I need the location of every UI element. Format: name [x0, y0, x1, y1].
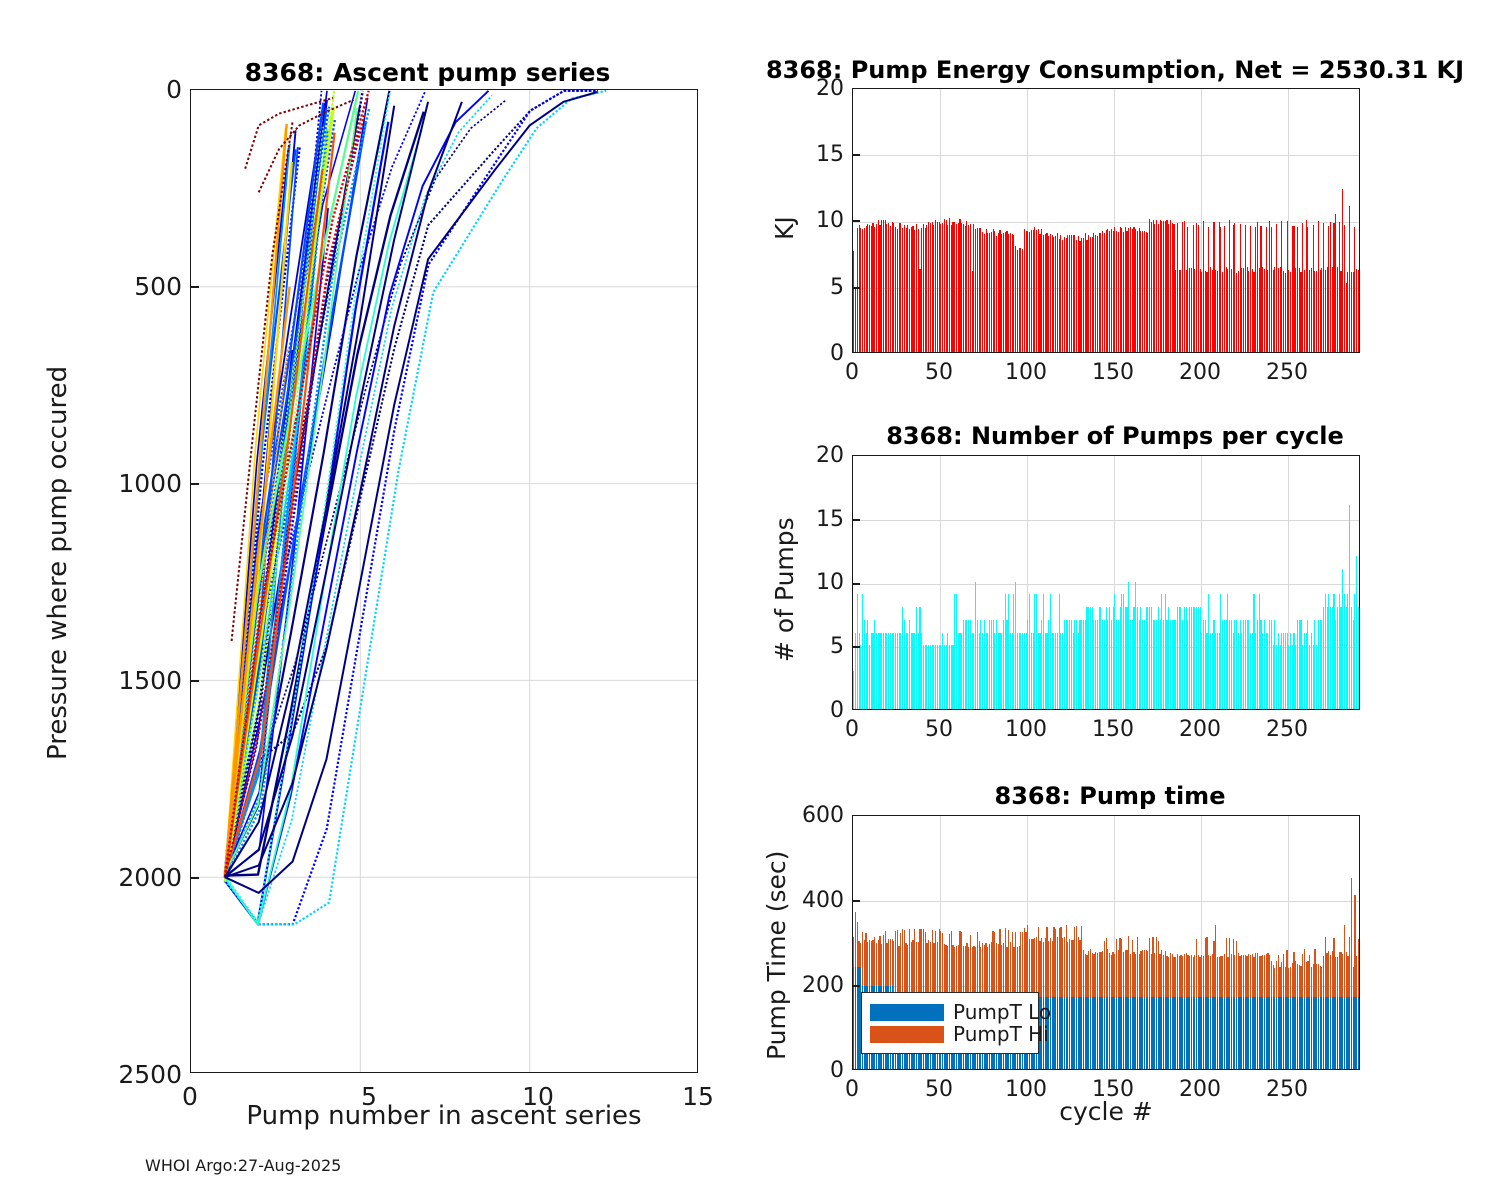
ascent-ytickmark-2000 — [190, 877, 199, 879]
pumptime-panel-title: 8368: Pump time — [870, 782, 1350, 810]
pumps-ytickmark-10 — [852, 583, 860, 585]
panel-ascent-pump-series: 8368: Ascent pump series 0 500 1000 1500… — [0, 0, 740, 1200]
ascent-ytick-0: 0 — [90, 75, 182, 104]
energy-xtick-200: 200 — [1170, 360, 1230, 385]
panel-pump-time: 8368: Pump time PumpT Lo PumpT Hi 600 40… — [740, 760, 1500, 1200]
pumptime-ytickmark-400 — [852, 900, 860, 902]
energy-xtick-100: 100 — [996, 360, 1056, 385]
energy-ytick-5: 5 — [780, 275, 844, 300]
energy-ytickmark-5 — [852, 287, 860, 289]
pumps-bar-group — [853, 456, 1359, 709]
panel-pumps-per-cycle: 8368: Number of Pumps per cycle 20 15 10… — [740, 400, 1500, 760]
legend-item-pumpt-hi: PumpT Hi — [870, 1023, 1030, 1045]
ascent-ytick-2000: 2000 — [90, 863, 182, 892]
energy-xtick-50: 50 — [909, 360, 969, 385]
pumps-ytickmark-5 — [852, 646, 860, 648]
ascent-trajectories — [191, 90, 698, 1073]
pumps-xtick-200: 200 — [1170, 717, 1230, 742]
pumps-ytick-20: 20 — [780, 443, 844, 468]
pumps-xtick-0: 0 — [822, 717, 882, 742]
energy-ytick-20: 20 — [780, 76, 844, 101]
ascent-ytickmark-1500 — [190, 680, 199, 682]
ascent-panel-title: 8368: Ascent pump series — [155, 58, 700, 87]
figure-canvas: 8368: Ascent pump series 0 500 1000 1500… — [0, 0, 1500, 1200]
energy-ytick-15: 15 — [780, 142, 844, 167]
energy-xtick-0: 0 — [822, 360, 882, 385]
pumps-xtick-250: 250 — [1257, 717, 1317, 742]
ascent-line-group — [225, 91, 606, 925]
legend-item-pumpt-lo: PumpT Lo — [870, 1001, 1030, 1023]
pumps-plot-area — [852, 455, 1360, 710]
ascent-ytick-500: 500 — [90, 272, 182, 301]
ascent-ytickmark-500 — [190, 286, 199, 288]
pumps-ytickmark-15 — [852, 519, 860, 521]
panel-pump-energy: 8368: Pump Energy Consumption, Net = 253… — [740, 0, 1500, 400]
ascent-xaxis-label: Pump number in ascent series — [190, 1101, 698, 1131]
legend-label-pumpt-lo: PumpT Lo — [953, 1002, 1051, 1022]
pumptime-yaxis-label: Pump Time (sec) — [762, 851, 791, 1060]
pumps-panel-title: 8368: Number of Pumps per cycle — [810, 422, 1420, 450]
pumptime-ytick-600: 600 — [764, 803, 844, 828]
energy-panel-title: 8368: Pump Energy Consumption, Net = 253… — [750, 56, 1480, 84]
pumps-xtick-150: 150 — [1083, 717, 1143, 742]
energy-ytickmark-15 — [852, 154, 860, 156]
ascent-ytick-1500: 1500 — [90, 666, 182, 695]
pumps-yaxis-label: # of Pumps — [770, 517, 799, 662]
pumptime-legend: PumpT Lo PumpT Hi — [861, 992, 1039, 1054]
legend-label-pumpt-hi: PumpT Hi — [953, 1024, 1049, 1044]
pumps-xtick-100: 100 — [996, 717, 1056, 742]
ascent-ytick-1000: 1000 — [90, 469, 182, 498]
energy-xtick-150: 150 — [1083, 360, 1143, 385]
energy-ytickmark-10 — [852, 220, 860, 222]
ascent-yaxis-label: Pressure where pump occured — [43, 366, 73, 760]
legend-swatch-pumpt-hi — [870, 1026, 944, 1043]
legend-swatch-pumpt-lo — [870, 1004, 944, 1021]
energy-bar-group — [853, 89, 1359, 352]
energy-xtick-250: 250 — [1257, 360, 1317, 385]
energy-yaxis-label: KJ — [770, 216, 799, 240]
ascent-plot-area — [190, 89, 698, 1073]
figure-footer: WHOI Argo:27-Aug-2025 — [145, 1156, 341, 1175]
energy-plot-area — [852, 88, 1360, 353]
pumptime-xaxis-label: cycle # — [852, 1097, 1360, 1126]
pumps-xtick-50: 50 — [909, 717, 969, 742]
pumptime-ytickmark-200 — [852, 985, 860, 987]
ascent-ytickmark-1000 — [190, 483, 199, 485]
